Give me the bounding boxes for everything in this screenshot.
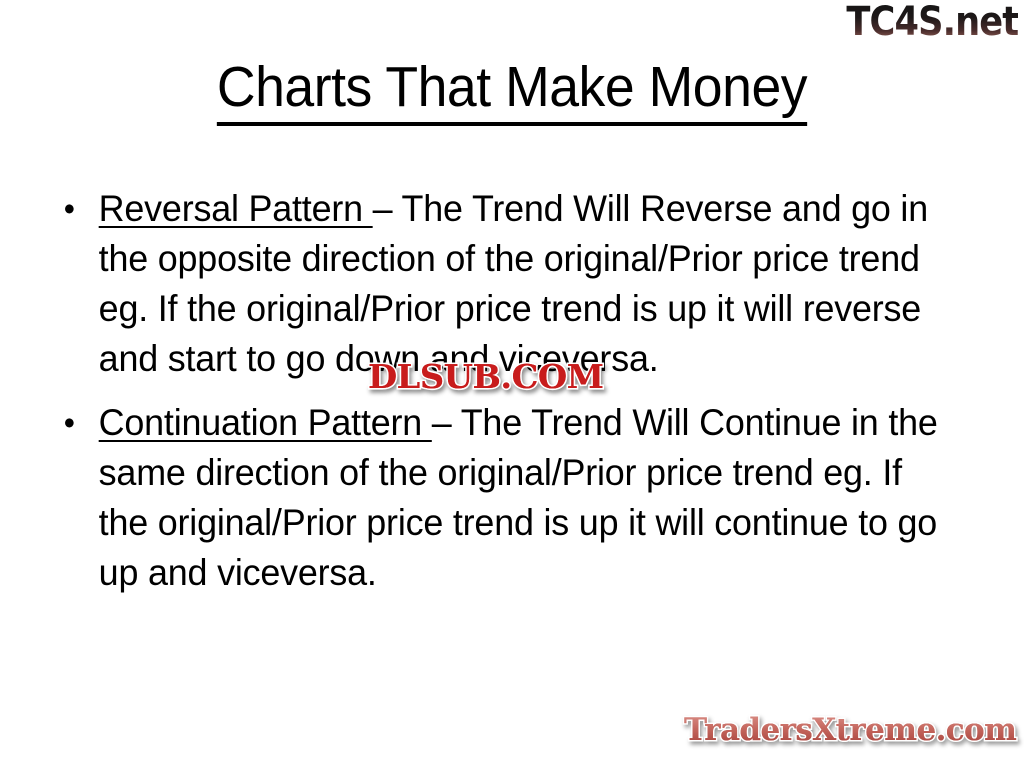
bullet-term-reversal: Reversal Pattern — [99, 188, 373, 229]
dlsub-watermark: DLSUB.COM DLSUB.COM — [368, 360, 603, 393]
tradersxtreme-watermark-fill: TradersXtreme.com — [684, 715, 1016, 746]
list-item: Continuation Pattern – The Trend Will Co… — [56, 398, 958, 598]
list-item: Reversal Pattern – The Trend Will Revers… — [56, 184, 958, 384]
dlsub-watermark-fill: DLSUB.COM — [368, 360, 603, 393]
bullet-term-continuation: Continuation Pattern — [99, 402, 432, 443]
tc4s-site-watermark: TC4S.net — [846, 2, 1018, 42]
tradersxtreme-watermark: TradersXtreme.com TradersXtreme.com — [684, 715, 1016, 746]
bullet-list: Reversal Pattern – The Trend Will Revers… — [56, 184, 986, 612]
page-title-text: Charts That Make Money — [217, 58, 807, 126]
presentation-slide: TC4S.net Charts That Make Money Reversal… — [0, 0, 1024, 768]
page-title: Charts That Make Money — [31, 58, 994, 126]
